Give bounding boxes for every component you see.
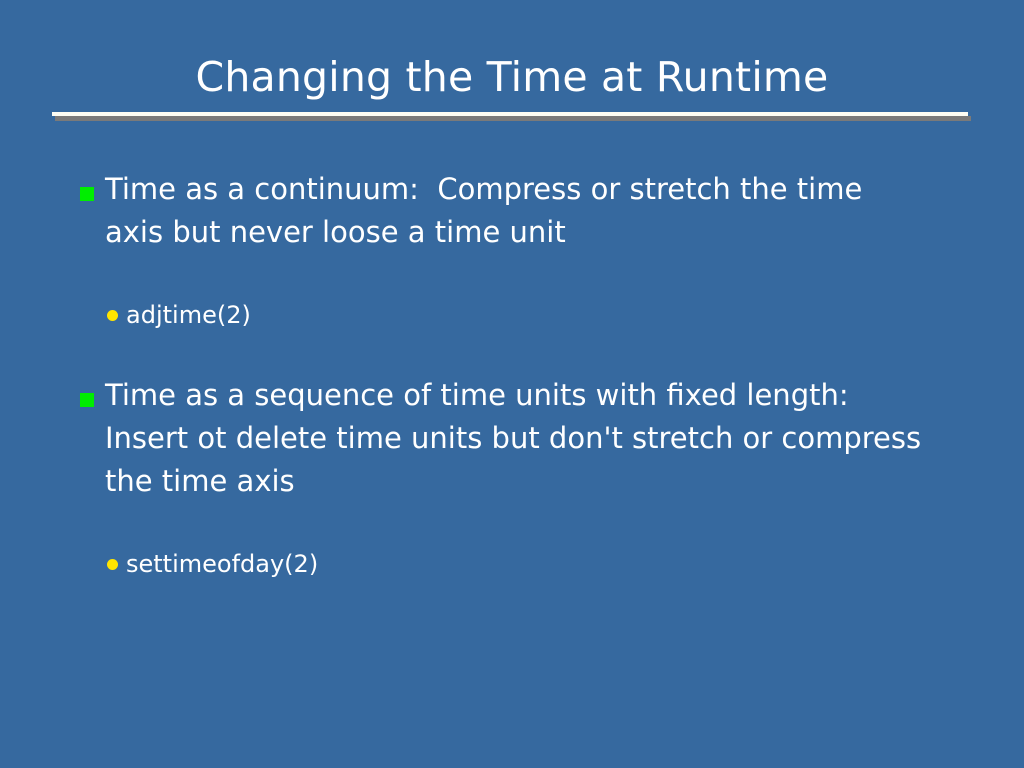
- round-bullet-icon: [107, 310, 118, 321]
- bullet-item-label: Time as a continuum: Compress or stretch…: [105, 168, 929, 254]
- spacer: [0, 332, 1024, 374]
- bullet-item-label: Time as a sequence of time units with fi…: [105, 374, 929, 503]
- round-bullet-icon: [107, 559, 118, 570]
- bullet-item-label: adjtime(2): [126, 298, 929, 332]
- title-divider: [52, 112, 968, 121]
- presentation-slide: Changing the Time at Runtime Time as a c…: [0, 0, 1024, 768]
- bullet-item-level1: Time as a sequence of time units with fi…: [0, 374, 1024, 503]
- page-title: Changing the Time at Runtime: [0, 52, 1024, 102]
- bullet-item-level2: settimeofday(2): [0, 547, 1024, 581]
- bullet-item-label: settimeofday(2): [126, 547, 929, 581]
- square-bullet-icon: [80, 187, 94, 201]
- slide-body: Time as a continuum: Compress or stretch…: [0, 168, 1024, 638]
- slide-title-block: Changing the Time at Runtime: [0, 52, 1024, 102]
- divider-shadow: [55, 116, 971, 121]
- square-bullet-icon: [80, 393, 94, 407]
- spacer: [0, 254, 1024, 298]
- bullet-item-level2: adjtime(2): [0, 298, 1024, 332]
- spacer: [0, 503, 1024, 547]
- bullet-item-level1: Time as a continuum: Compress or stretch…: [0, 168, 1024, 254]
